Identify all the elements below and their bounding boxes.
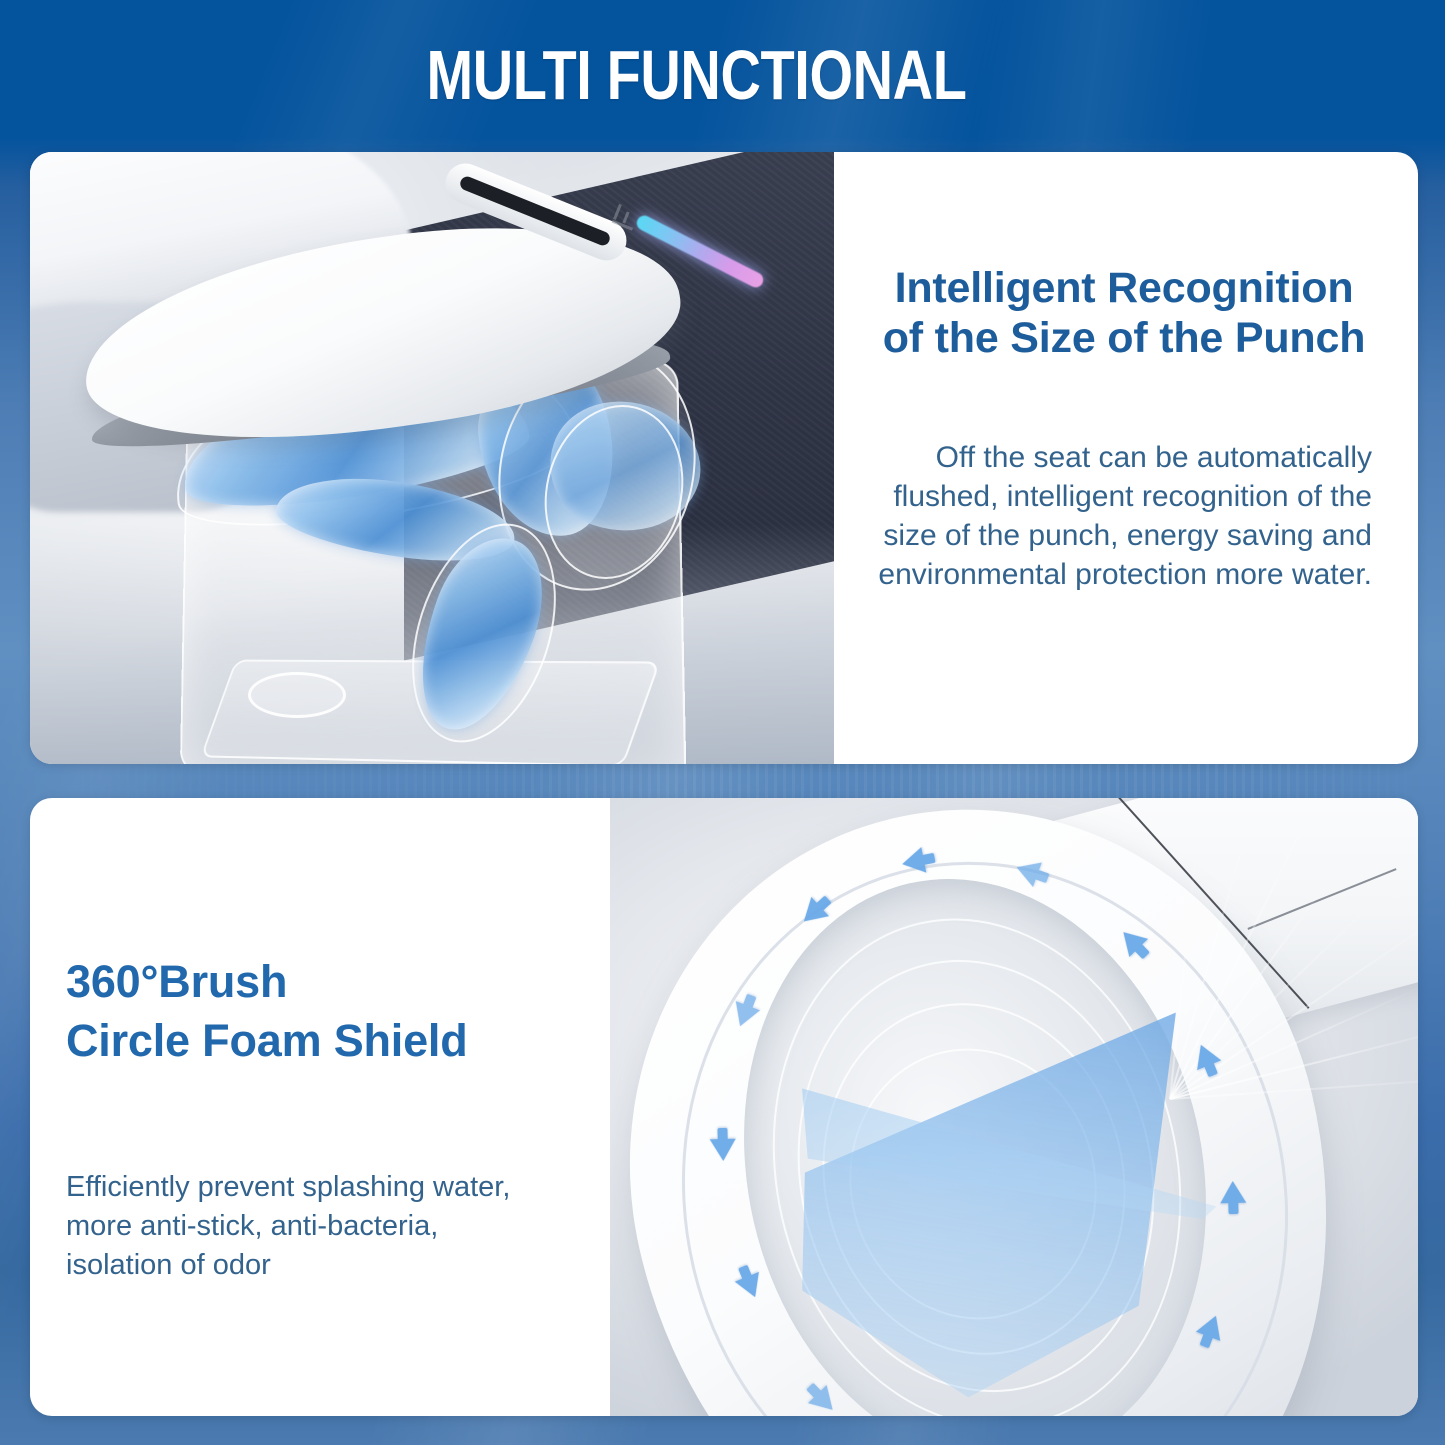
page-title: MULTI FUNCTIONAL <box>426 40 966 110</box>
flow-arrow-icon <box>709 1138 736 1161</box>
toilet-bowl-foam-image <box>610 798 1418 1416</box>
foam-heading-line-2: Circle Foam Shield <box>66 1012 580 1071</box>
foam-heading: 360°Brush Circle Foam Shield <box>66 953 580 1070</box>
feature-card-circle-foam-shield: 360°Brush Circle Foam Shield Efficiently… <box>30 798 1418 1416</box>
intelligent-heading-line-1: Intelligent Recognition <box>876 264 1372 314</box>
foam-heading-line-1: 360°Brush <box>66 953 580 1012</box>
intelligent-body-text: Off the seat can be automatically flushe… <box>876 438 1372 594</box>
page-header: MULTI FUNCTIONAL <box>0 0 1445 150</box>
flow-arrow-icon <box>1220 1181 1247 1204</box>
circle-foam-shield-text: 360°Brush Circle Foam Shield Efficiently… <box>30 798 610 1416</box>
drain-hole <box>248 672 346 718</box>
feature-card-intelligent-recognition: Intelligent Recognition of the Size of t… <box>30 152 1418 764</box>
foam-body-text: Efficiently prevent splashing water, mor… <box>66 1168 580 1285</box>
infographic-page: MULTI FUNCTIONAL <box>0 0 1445 1445</box>
intelligent-heading: Intelligent Recognition of the Size of t… <box>876 264 1372 364</box>
xray-toilet-image <box>30 152 834 764</box>
intelligent-recognition-text: Intelligent Recognition of the Size of t… <box>834 152 1418 764</box>
foam-body-line-2: more anti-stick, anti-bacteria, <box>66 1207 580 1246</box>
intelligent-heading-line-2: of the Size of the Punch <box>876 314 1372 364</box>
foam-body-line-3: isolation of odor <box>66 1246 580 1285</box>
foam-body-line-1: Efficiently prevent splashing water, <box>66 1168 580 1207</box>
